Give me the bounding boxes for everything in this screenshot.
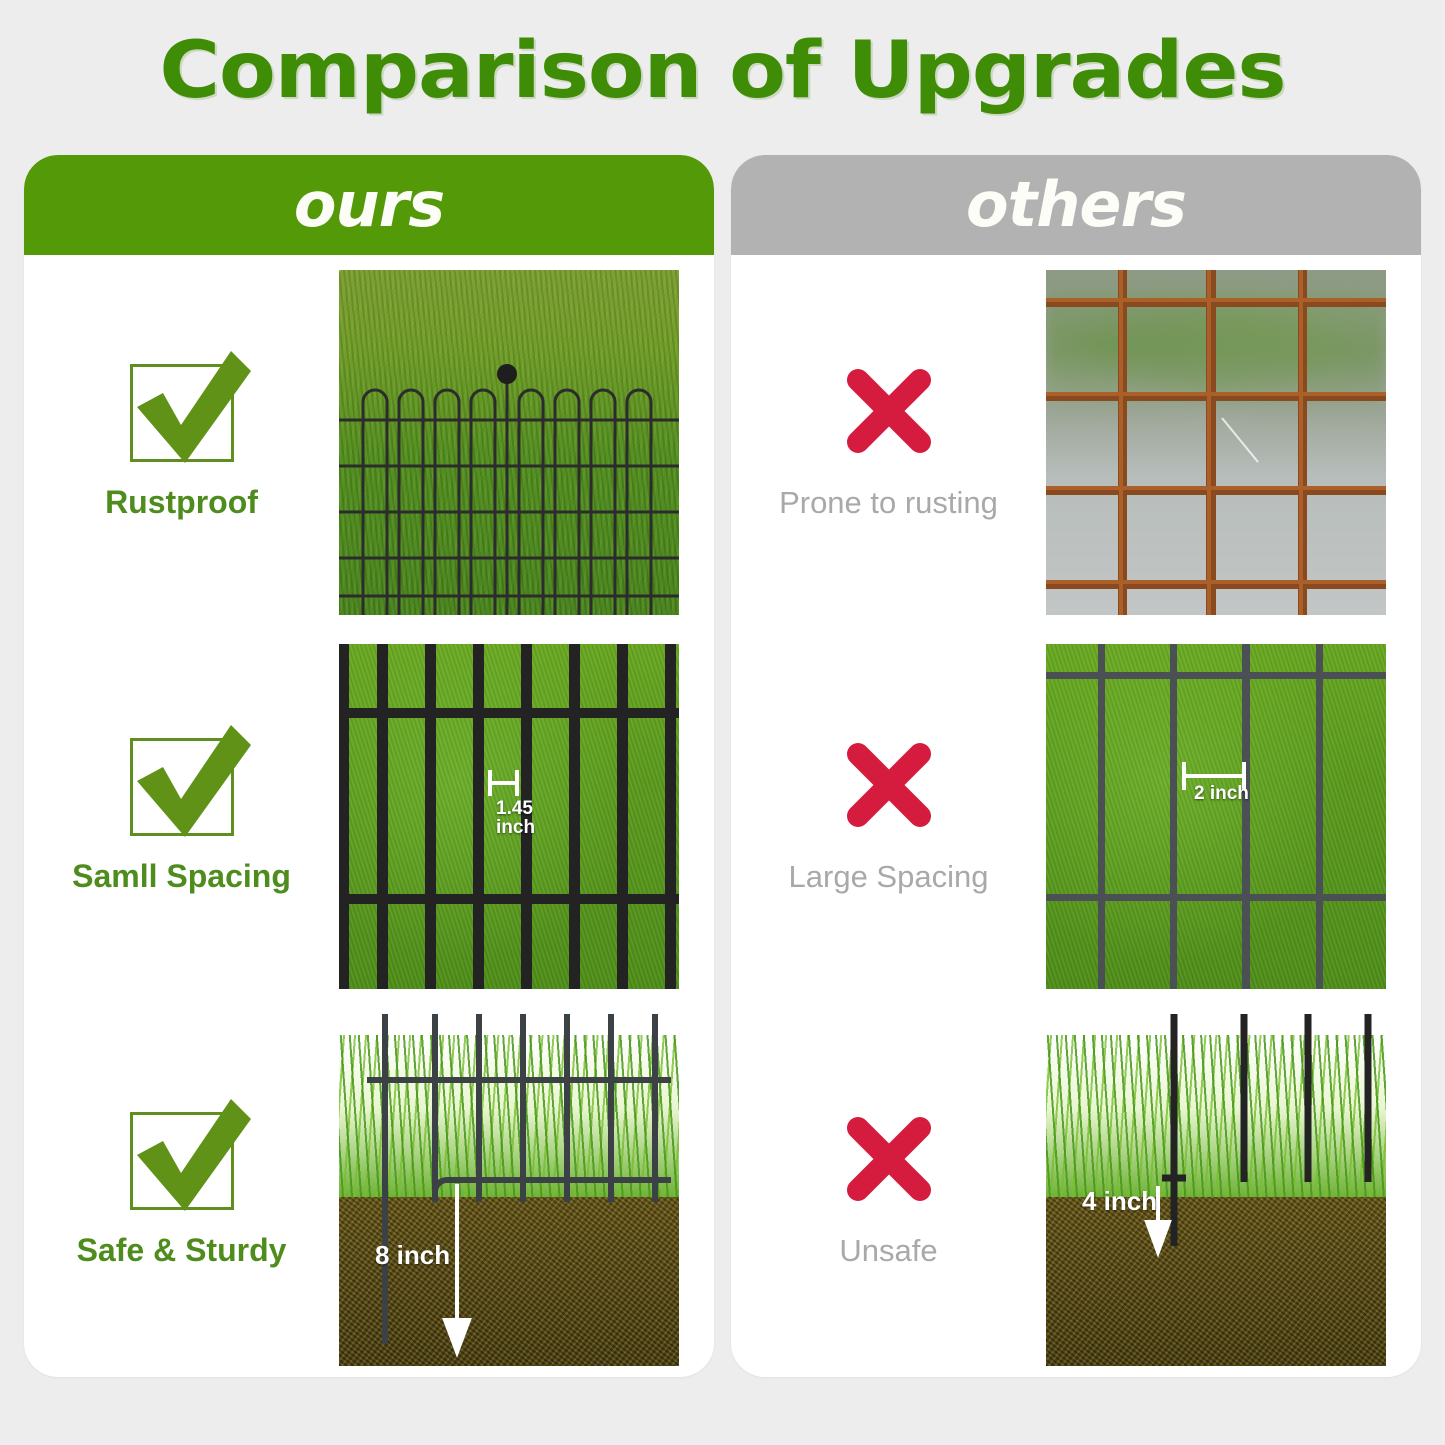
wide-grid-graphic [1046, 644, 1386, 989]
feature-label-unsafe: Unsafe [839, 1233, 937, 1269]
fence-stake-graphic [339, 1014, 679, 1366]
check-mark-icon [119, 1093, 251, 1219]
feature-unsafe: Unsafe [731, 1111, 1046, 1269]
row-rustproof: Rustproof [24, 255, 714, 629]
column-body-others: Prone to rusting [731, 255, 1421, 1377]
column-ours: ours Rustproof [24, 155, 714, 1377]
feature-large-spacing: Large Spacing [731, 737, 1046, 895]
image-rusty-fence [1046, 270, 1386, 615]
comparison-board: ours Rustproof [0, 155, 1445, 1425]
check-mark-icon [119, 719, 251, 845]
check-icon [130, 1112, 234, 1210]
hoop-fence-graphic [339, 270, 679, 615]
column-others: others Prone to rusting [731, 155, 1421, 1377]
image-large-spacing: 2 inch [1046, 644, 1386, 989]
check-icon [130, 738, 234, 836]
feature-label-prone-to-rusting: Prone to rusting [779, 485, 998, 521]
image-shallow-stake: 4 inch [1046, 1014, 1386, 1366]
annotation-1-45-inch: 1.45 inch [496, 799, 535, 839]
image-deep-stake: 8 inch [339, 1014, 679, 1366]
annotation-2-inch: 2 inch [1194, 784, 1249, 804]
column-header-label-ours: ours [294, 174, 444, 236]
annotation-8-inch: 8 inch [375, 1242, 450, 1269]
column-body-ours: Rustproof [24, 255, 714, 1377]
image-rustproof-fence [339, 270, 679, 615]
row-small-spacing: Samll Spacing [24, 629, 714, 1003]
page-title: Comparison of Upgrades [0, 26, 1445, 116]
column-header-label-others: others [966, 174, 1186, 236]
cross-icon [841, 363, 937, 459]
feature-small-spacing: Samll Spacing [24, 738, 339, 894]
feature-rustproof: Rustproof [24, 364, 339, 520]
check-mark-icon [119, 345, 251, 471]
row-safe-sturdy: Safe & Sturdy [24, 1003, 714, 1377]
feature-safe-sturdy: Safe & Sturdy [24, 1112, 339, 1268]
annotation-4-inch: 4 inch [1082, 1188, 1157, 1215]
check-icon [130, 364, 234, 462]
cross-icon [841, 1111, 937, 1207]
feature-prone-to-rusting: Prone to rusting [731, 363, 1046, 521]
row-unsafe: Unsafe [731, 1003, 1421, 1377]
row-prone-to-rusting: Prone to rusting [731, 255, 1421, 629]
feature-label-large-spacing: Large Spacing [789, 859, 989, 895]
feature-label-safe-sturdy: Safe & Sturdy [77, 1232, 287, 1268]
column-header-others: others [731, 155, 1421, 255]
rusted-grid-graphic [1046, 270, 1386, 615]
feature-label-small-spacing: Samll Spacing [72, 858, 291, 894]
column-header-ours: ours [24, 155, 714, 255]
feature-label-rustproof: Rustproof [105, 484, 258, 520]
cross-icon [841, 737, 937, 833]
row-large-spacing: Large Spacing [731, 629, 1421, 1003]
image-small-spacing: 1.45 inch [339, 644, 679, 989]
